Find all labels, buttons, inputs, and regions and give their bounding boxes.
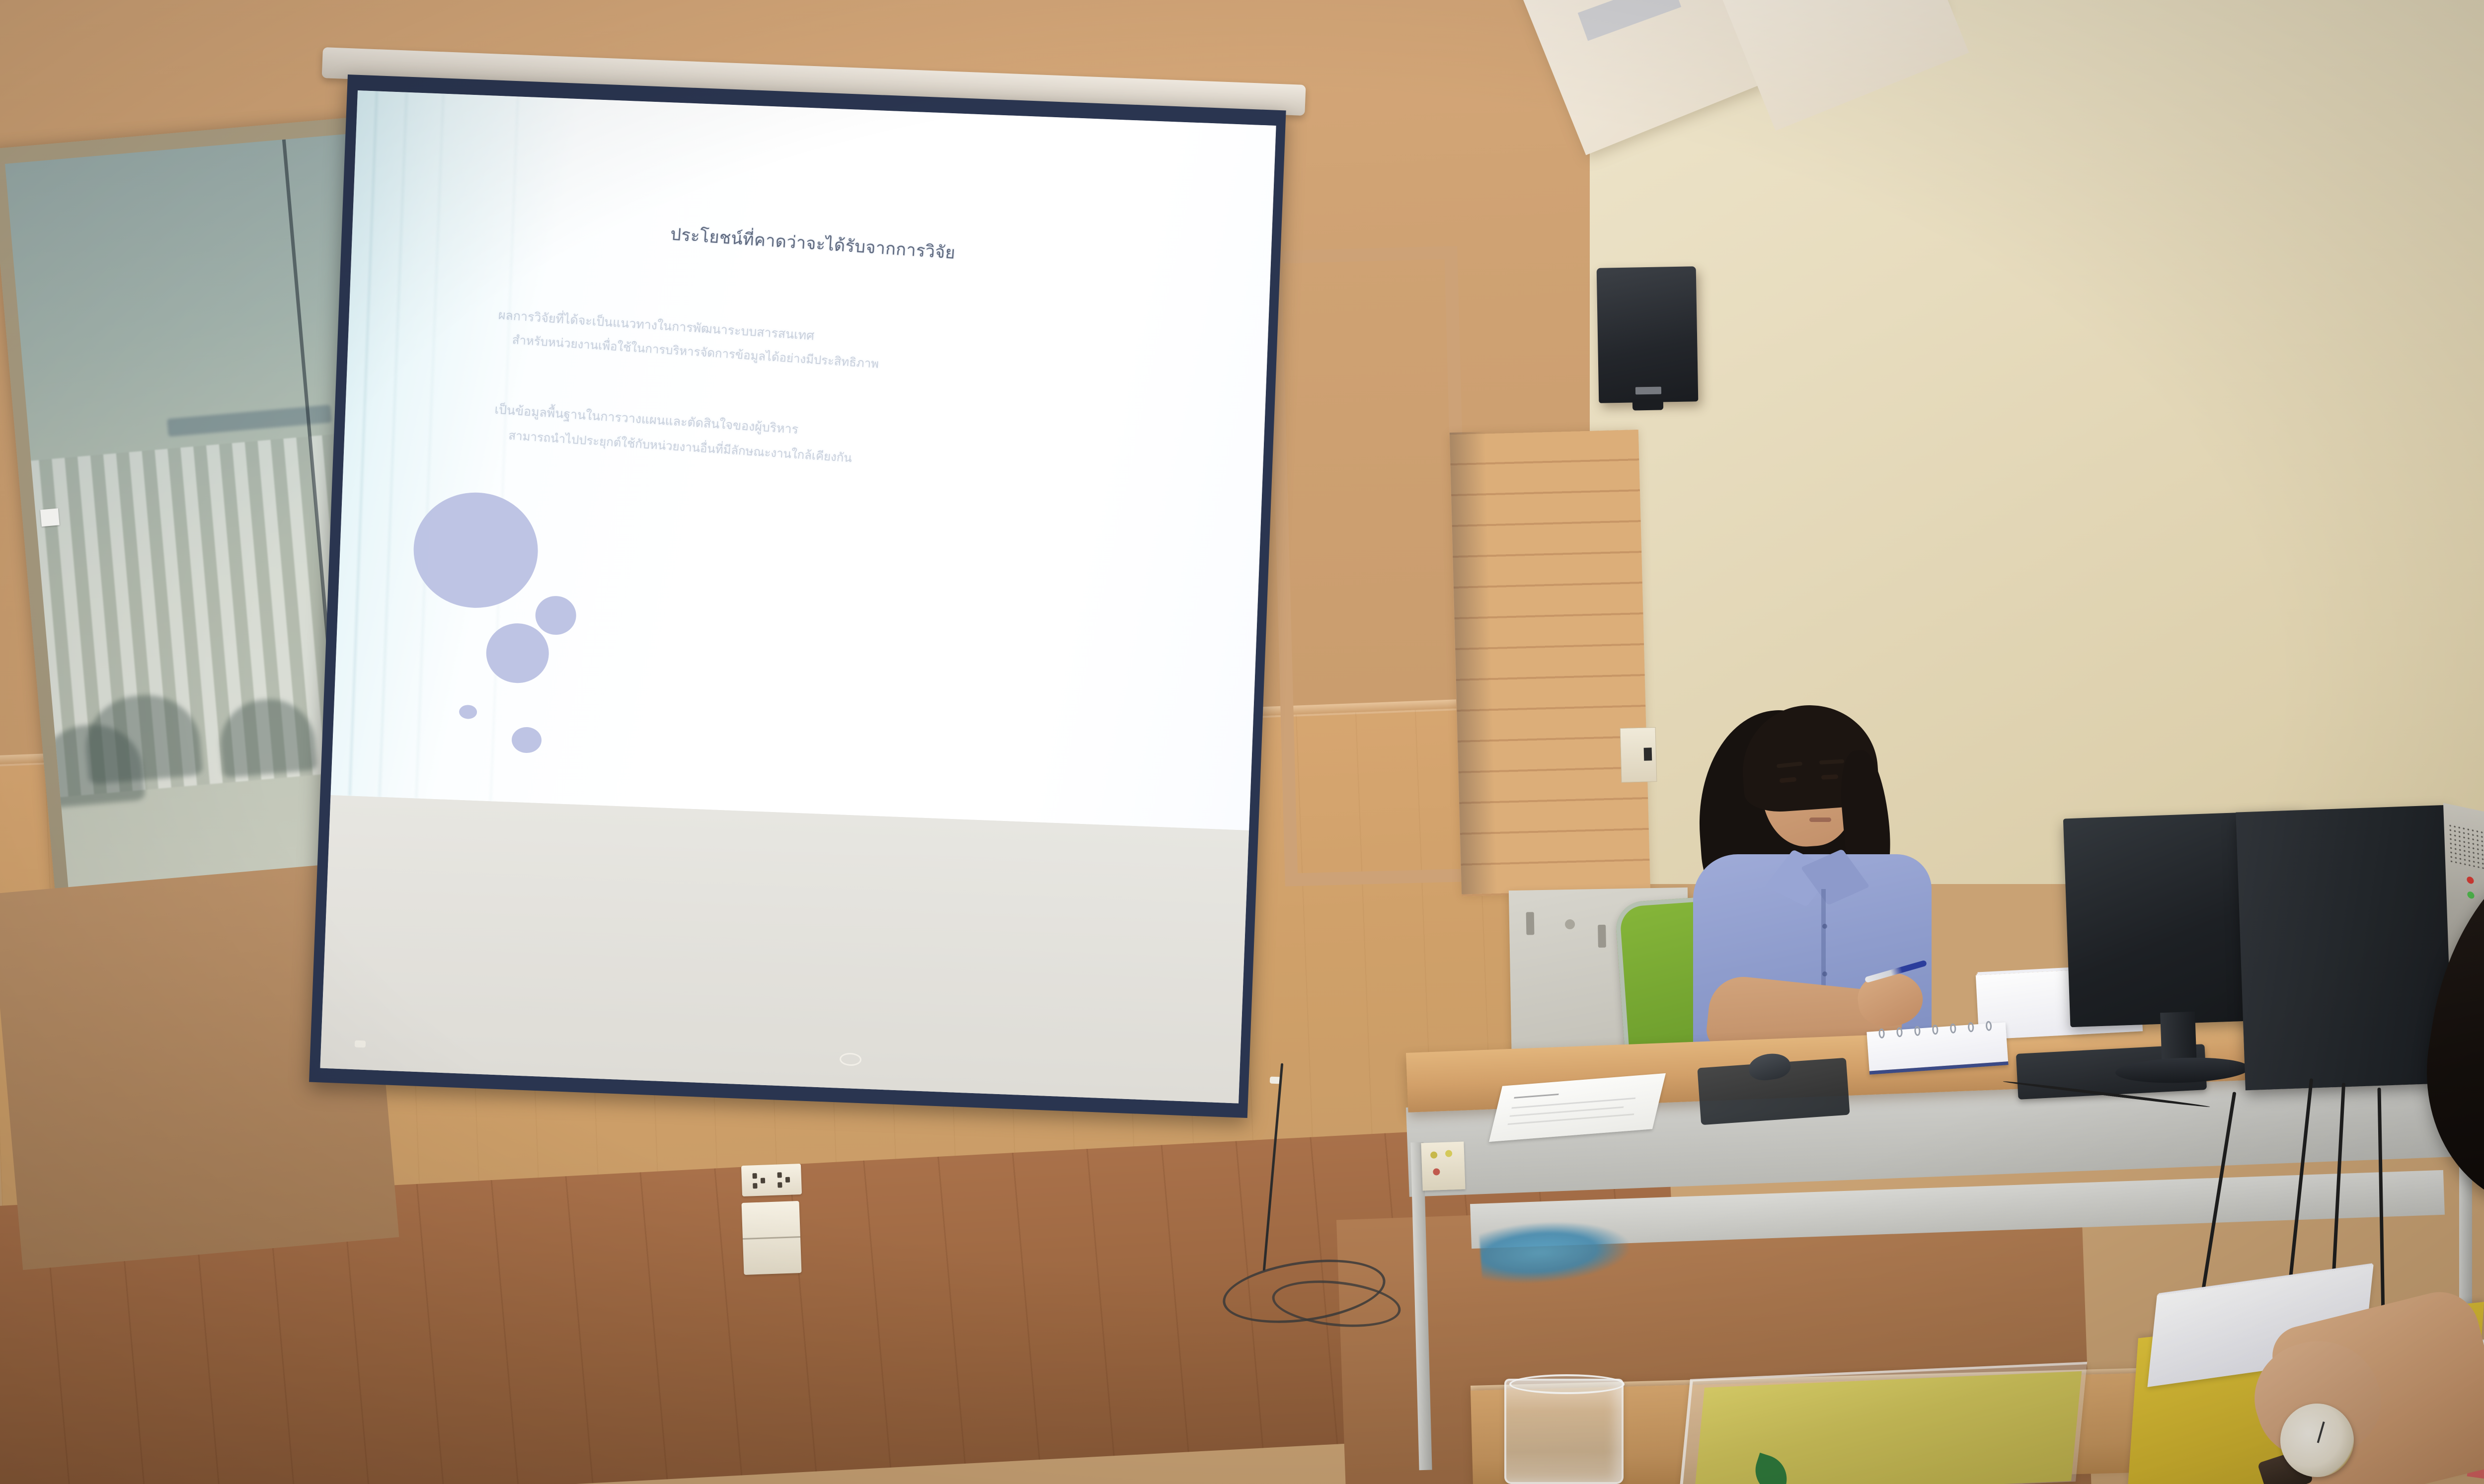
projection-screen-surface[interactable]: ประโยชน์ที่คาดว่าจะได้รับจากการวิจัย ผลก…: [320, 90, 1276, 1104]
speaker-brand-badge: [1635, 387, 1661, 395]
wall-control-panel[interactable]: [1620, 727, 1657, 783]
decorative-bubble-icon: [459, 705, 477, 719]
slide-title: ประโยชน์ที่คาดว่าจะได้รับจากการวิจัย: [670, 221, 1118, 277]
screen-tab-left: [355, 1040, 366, 1048]
wall-speaker-icon: [1597, 266, 1699, 403]
room-photo-scene: SCREEN ประโยชน์ที่คาดว่าจะได้รับจากการวิ…: [0, 0, 2484, 1484]
floor-power-outlet[interactable]: [1421, 1142, 1465, 1191]
decorative-bubble-icon: [535, 595, 577, 636]
yellow-folder: [1694, 1371, 2082, 1484]
projected-slide: ประโยชน์ที่คาดว่าจะได้รับจากการวิจัย ผลก…: [330, 90, 1276, 830]
decorative-bubble-icon: [411, 490, 540, 610]
screen-blank-area: [320, 795, 1249, 1104]
presenter: [1679, 690, 1957, 1078]
decorative-bubble-icon: [511, 727, 542, 753]
drinking-glass: [1504, 1379, 1624, 1484]
power-outlet[interactable]: [741, 1164, 802, 1196]
computer-tower[interactable]: [2236, 805, 2459, 1091]
speaker-bracket: [1632, 399, 1663, 410]
sticky-note: [40, 508, 60, 526]
light-switch[interactable]: [742, 1201, 802, 1275]
network-cables: [1478, 1217, 1631, 1287]
door-frame: [1268, 246, 1474, 887]
